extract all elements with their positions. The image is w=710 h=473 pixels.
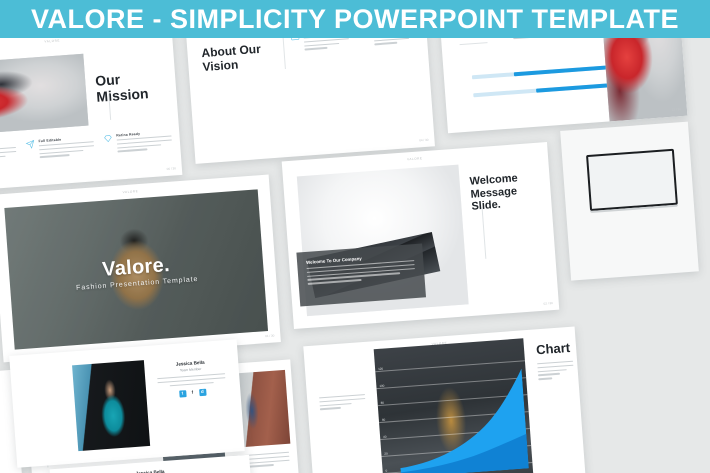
slide-page-number: 12 / 30: [672, 107, 681, 112]
y-tick: 100: [379, 384, 385, 401]
skill-two: Skill Two: [473, 76, 623, 96]
skill-one: Skill One: [471, 58, 621, 78]
slide-team-jessica-right[interactable]: Jessica Bella Team Member t f d: [9, 339, 245, 467]
slide-side-body: [319, 394, 366, 410]
photo-woman-teal-top: [72, 360, 150, 451]
y-tick: 40: [383, 434, 389, 451]
divider: [482, 207, 486, 259]
feature-item: Full Editable: [25, 135, 94, 159]
slide-welcome-message[interactable]: VALORE Welcome To Our Company Welcome Me…: [282, 142, 560, 329]
promo-graphic: VALORE - SIMPLICITY POWERPOINT TEMPLATE …: [0, 0, 710, 473]
y-tick: 60: [382, 418, 388, 435]
header-banner: VALORE - SIMPLICITY POWERPOINT TEMPLATE: [0, 0, 710, 38]
slide-page-number: 04 / 30: [419, 138, 428, 143]
slide-tag: VALORE: [44, 38, 60, 43]
divider: [460, 42, 488, 45]
divider: [282, 33, 285, 69]
slide-device-mockup[interactable]: [560, 122, 699, 281]
page-title: VALORE - SIMPLICITY POWERPOINT TEMPLATE: [31, 6, 679, 33]
feature-body: [117, 136, 173, 153]
slide-tag: VALORE: [123, 189, 139, 194]
chart-title: Chart: [536, 341, 571, 358]
laptop-lid: [586, 149, 678, 211]
slide-tag: VALORE: [407, 156, 423, 161]
slide-page-number: 01 / 30: [265, 334, 274, 339]
facebook-icon[interactable]: f: [189, 389, 196, 396]
photo-woman-with-scarf: [0, 54, 89, 137]
chart-area-series: [393, 357, 529, 473]
slide-heading: About Our Vision: [201, 42, 273, 75]
feature-item: Retina Ready: [103, 130, 172, 154]
y-tick: 0: [385, 468, 391, 473]
slide-heading: Our Mission: [95, 67, 177, 105]
y-tick: 120: [378, 367, 384, 384]
slide-page-number: 06 / 30: [167, 166, 176, 171]
feature-item: Unlimited Colors: [0, 141, 17, 165]
y-tick: 20: [384, 451, 390, 468]
twitter-icon[interactable]: t: [179, 390, 186, 397]
slide-page-number: 02 / 30: [543, 301, 552, 306]
slide-title-valore[interactable]: VALORE Valore. Fashion Presentation Temp…: [0, 175, 281, 363]
member-bio: [157, 373, 225, 387]
y-axis-ticks: 120 100 80 60 40 20 0: [378, 367, 392, 473]
slide-chart[interactable]: VALORE 120 100 80 60 40 20: [303, 327, 586, 473]
chart-canvas: 120 100 80 60 40 20 0 January February M…: [374, 338, 534, 473]
slide-grid: VALORE Our Mission Unlimited Colors: [0, 0, 710, 473]
photo-woman-in-boat: [185, 68, 435, 156]
laptop-screen: [588, 151, 676, 209]
slide-our-mission[interactable]: VALORE Our Mission Unlimited Colors: [0, 25, 182, 192]
welcome-card: Welcome To Our Company: [296, 243, 426, 306]
feature-body: [39, 141, 95, 158]
feature-body: [0, 147, 17, 164]
social-links[interactable]: t f d: [158, 387, 226, 399]
send-icon: [25, 140, 35, 150]
dribbble-icon[interactable]: d: [199, 389, 206, 396]
chart-body: [537, 361, 574, 380]
diamond-icon: [103, 134, 113, 144]
laptop-mockup: [586, 149, 678, 217]
y-tick: 80: [380, 401, 386, 418]
